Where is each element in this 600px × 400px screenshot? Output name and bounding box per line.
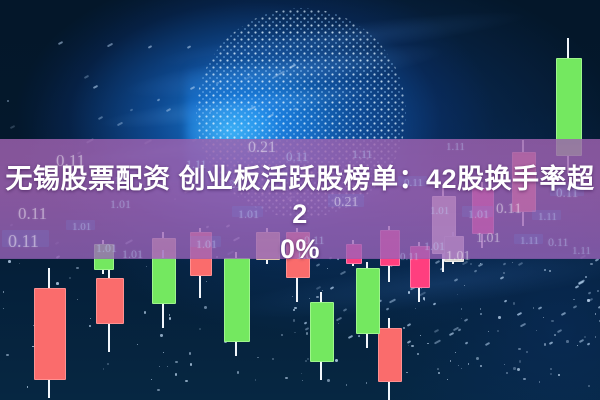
particle — [554, 334, 556, 336]
particle — [301, 373, 302, 374]
particle — [107, 363, 110, 366]
particle — [536, 330, 537, 331]
candlestick — [96, 262, 122, 352]
particle — [294, 307, 296, 309]
particle-streak — [336, 317, 343, 322]
particle — [595, 336, 596, 337]
particle — [199, 328, 201, 330]
candlestick — [34, 268, 64, 398]
particle-streak — [453, 278, 458, 282]
candle-body — [310, 302, 334, 362]
particle-streak — [407, 340, 412, 344]
particle — [424, 299, 426, 301]
particle — [533, 307, 535, 309]
particle — [415, 308, 416, 309]
particle — [480, 308, 481, 309]
particle — [428, 283, 429, 284]
particle-streak — [453, 327, 459, 331]
particle — [185, 380, 188, 383]
particle-streak — [433, 303, 436, 306]
particle — [167, 366, 168, 367]
particle — [577, 345, 578, 346]
particle-streak — [575, 286, 579, 289]
particle — [544, 343, 546, 345]
particle — [190, 363, 193, 366]
particle-streak — [480, 313, 483, 316]
particle — [573, 299, 575, 301]
particle — [281, 334, 283, 336]
particle — [480, 365, 482, 367]
particle — [175, 373, 178, 376]
particle-streak — [413, 274, 417, 277]
particle-streak — [98, 116, 103, 120]
candlestick — [310, 292, 332, 380]
particle — [175, 361, 178, 364]
particle — [393, 366, 395, 368]
particle-streak — [187, 45, 192, 49]
particle-streak — [561, 312, 566, 316]
particle — [305, 360, 307, 362]
particle — [160, 334, 162, 336]
particle — [517, 314, 518, 315]
particle — [322, 290, 323, 291]
particle-streak — [386, 308, 390, 311]
particle-streak — [107, 42, 113, 47]
particle — [36, 344, 37, 345]
particle — [157, 389, 159, 391]
particle — [34, 353, 36, 355]
particle-streak — [458, 328, 461, 331]
particle — [406, 372, 407, 373]
particle-streak — [465, 341, 469, 344]
particle-streak — [148, 45, 152, 49]
particle-streak — [517, 312, 522, 316]
particle — [52, 342, 54, 344]
particle — [34, 290, 37, 293]
particle-streak — [7, 100, 10, 103]
particle — [35, 370, 38, 373]
particle — [189, 352, 192, 355]
particle — [33, 325, 34, 326]
particle — [468, 363, 469, 364]
particle — [450, 360, 452, 362]
particle — [550, 368, 552, 370]
particle — [243, 277, 244, 278]
particle-streak — [588, 291, 592, 294]
particle — [77, 299, 78, 300]
particle — [3, 291, 4, 292]
particle-streak — [322, 309, 327, 313]
particle-streak — [434, 340, 441, 345]
particle — [584, 336, 586, 338]
particle — [169, 314, 170, 315]
particle-streak — [433, 329, 438, 333]
particle — [366, 382, 368, 384]
particle — [62, 327, 64, 329]
particle — [461, 318, 462, 319]
particle — [76, 267, 78, 269]
particle — [503, 272, 505, 274]
candlestick — [378, 318, 400, 400]
particle — [327, 379, 330, 382]
particle-streak — [573, 305, 577, 309]
particle — [427, 343, 429, 345]
candle-wick — [108, 262, 110, 352]
particle — [518, 348, 521, 351]
particle-streak — [520, 323, 527, 328]
particle — [558, 374, 559, 375]
candle-wick — [388, 318, 390, 400]
candle-body — [356, 268, 380, 334]
particle-streak — [407, 324, 411, 327]
particle-streak — [166, 108, 171, 112]
particle — [27, 386, 29, 388]
particle — [306, 332, 308, 334]
particle — [587, 299, 589, 301]
particle — [159, 366, 160, 367]
particle — [504, 364, 505, 365]
particle — [56, 282, 59, 285]
particle — [294, 269, 296, 271]
candlestick — [356, 262, 378, 348]
particle — [519, 360, 521, 362]
particle — [307, 358, 309, 360]
particle — [206, 281, 207, 282]
particle — [327, 268, 329, 270]
particle — [403, 327, 404, 328]
particle — [408, 345, 409, 346]
particle-streak — [313, 309, 318, 313]
particle — [318, 360, 320, 362]
particle-streak — [303, 321, 307, 324]
particle — [314, 353, 315, 354]
particle — [296, 283, 298, 285]
particle-streak — [463, 318, 468, 322]
particle — [224, 340, 227, 343]
particle — [272, 358, 274, 360]
particle-streak — [538, 306, 543, 310]
particle — [293, 309, 295, 311]
particle — [3, 308, 4, 309]
particle — [588, 385, 590, 387]
particle — [32, 346, 33, 347]
particle-streak — [485, 342, 490, 346]
particle — [46, 366, 49, 369]
particle — [338, 323, 340, 325]
particle-streak — [129, 108, 133, 111]
particle — [346, 384, 347, 385]
particle — [550, 373, 552, 375]
particle — [391, 359, 392, 360]
particle — [335, 359, 338, 362]
particle — [408, 291, 411, 294]
particle — [294, 332, 296, 334]
particle — [228, 335, 229, 336]
particle-streak — [347, 335, 352, 339]
particle-streak — [578, 281, 584, 285]
candle-wick — [320, 292, 322, 380]
particle-streak — [449, 332, 455, 336]
particle-streak — [587, 342, 591, 345]
particle — [89, 325, 91, 327]
particle — [549, 270, 551, 272]
particle-streak — [504, 300, 508, 303]
particle — [316, 296, 319, 299]
particle-streak — [10, 125, 16, 129]
particle — [151, 379, 152, 380]
particle — [461, 368, 462, 369]
particle — [103, 368, 104, 369]
candle-body — [224, 258, 250, 342]
headline-line-1: 无锡股票配资 创业板活跃股榜单：42股换手率超2 — [5, 164, 594, 229]
particle — [293, 319, 296, 322]
particle-streak — [389, 299, 396, 304]
particle — [423, 297, 425, 299]
particle-streak — [585, 276, 588, 279]
particle — [423, 282, 425, 284]
particle — [457, 294, 458, 295]
particle-streak — [410, 285, 417, 290]
particle — [292, 296, 293, 297]
particle — [506, 372, 508, 374]
particle — [144, 311, 147, 314]
particle — [204, 306, 207, 309]
particle — [417, 353, 419, 355]
particle — [237, 371, 239, 373]
particle — [163, 352, 164, 353]
particle-streak — [597, 289, 600, 292]
particle-streak — [419, 292, 426, 297]
particle — [498, 316, 501, 319]
particle-streak — [361, 316, 366, 320]
particle — [476, 357, 479, 360]
candlestick — [224, 252, 248, 356]
particle — [513, 302, 516, 305]
particle — [539, 381, 541, 383]
particle — [411, 345, 414, 348]
particle-streak — [557, 328, 563, 332]
particle — [302, 380, 303, 381]
particle-streak — [474, 269, 478, 272]
particle-streak — [305, 327, 309, 331]
particle — [6, 354, 9, 357]
particle — [437, 368, 439, 370]
particle — [90, 318, 91, 319]
particle — [421, 288, 422, 289]
particle-streak — [588, 298, 593, 302]
particle-streak — [579, 339, 584, 343]
particle-streak — [93, 85, 98, 89]
particle-streak — [361, 313, 365, 316]
particle — [257, 357, 259, 359]
particle — [397, 348, 399, 350]
particle-streak — [330, 286, 335, 290]
particle-streak — [499, 276, 503, 279]
particle — [464, 285, 465, 286]
candle-body — [378, 328, 402, 382]
particle — [566, 340, 569, 343]
particle — [285, 377, 287, 379]
particle — [595, 313, 597, 315]
banner-image: 0.110.211.111.111.110.110.111.011.011.01… — [0, 0, 600, 400]
candle-wick — [235, 252, 237, 356]
particle — [461, 308, 463, 310]
particle — [551, 320, 554, 323]
particle-streak — [578, 280, 585, 285]
particle — [255, 379, 256, 380]
particle — [69, 277, 71, 279]
particle — [420, 282, 423, 285]
particle-streak — [549, 341, 554, 345]
particle — [517, 368, 520, 371]
particle-streak — [543, 269, 546, 272]
particle-streak — [84, 75, 89, 79]
particle-streak — [311, 336, 317, 340]
particle — [513, 367, 516, 370]
particle-streak — [57, 41, 62, 45]
particle — [447, 379, 448, 380]
particle-streak — [357, 335, 360, 338]
particle-streak — [117, 122, 123, 127]
particle — [523, 378, 525, 380]
particle — [526, 351, 528, 353]
candle-body — [96, 278, 124, 324]
particle — [458, 365, 460, 367]
candle-body — [34, 288, 66, 380]
particle — [241, 269, 243, 271]
particle — [497, 330, 500, 333]
candle-wick — [366, 262, 368, 348]
page-title: 无锡股票配资 创业板活跃股榜单：42股换手率超2 0% — [0, 162, 600, 267]
particle-streak — [157, 98, 160, 101]
particle — [543, 317, 544, 318]
particle — [330, 302, 331, 303]
particle-streak — [316, 286, 321, 290]
headline-line-2: 0% — [0, 232, 600, 267]
particle — [455, 352, 456, 353]
particle-streak — [340, 270, 346, 274]
particle — [420, 335, 421, 336]
candle-wick — [48, 268, 50, 398]
particle-streak — [343, 308, 347, 312]
particle — [488, 331, 489, 332]
particle — [438, 372, 440, 374]
particle-streak — [440, 268, 444, 271]
particle-streak — [375, 300, 382, 305]
particle — [137, 344, 138, 345]
particle — [59, 289, 60, 290]
particle — [309, 298, 310, 299]
particle — [169, 317, 171, 319]
